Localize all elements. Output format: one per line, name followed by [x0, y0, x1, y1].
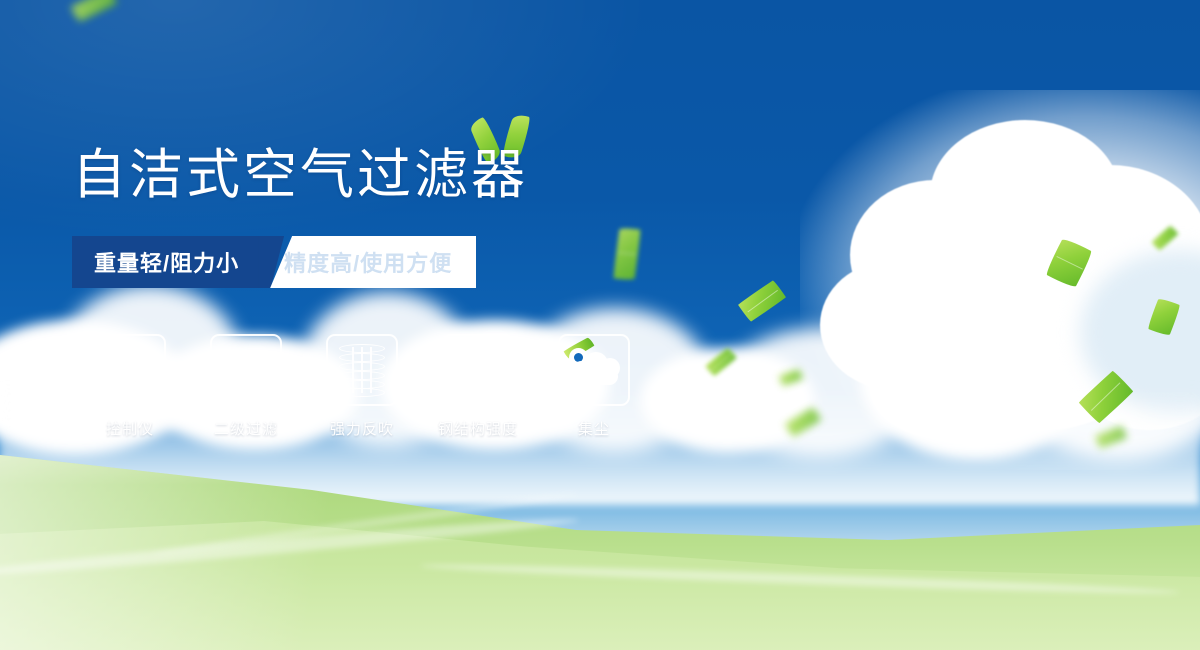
feature-icon-box: 3～8MM 钢板 — [442, 334, 514, 406]
subtitle-bar: 重量轻/阻力小 精度高/使用方便 — [72, 236, 476, 288]
gauge-on-label: NO — [101, 364, 112, 371]
feature-icon-box: 0.6～0.8 MPA — [210, 334, 282, 406]
feature-label: 集尘 — [578, 418, 610, 439]
air-label: Air — [566, 385, 622, 396]
filter-stack-icon — [339, 344, 385, 396]
feature-item-reverse-blow[interactable]: 强力反吹 — [304, 334, 420, 439]
feature-item-control-instrument[interactable]: NO OFF 控制仪 — [72, 334, 188, 439]
page-title: 自洁式空气过滤器 — [72, 146, 528, 204]
feature-label: 二级过滤 — [214, 418, 278, 439]
feature-list: NO OFF 控制仪 0.6～0.8 MPA 二级过滤 — [72, 334, 652, 439]
feature-icon-box — [326, 334, 398, 406]
pressure-value-line2: MPA — [230, 370, 262, 387]
gauge-off-label: OFF — [143, 386, 158, 393]
feature-item-steel-strength[interactable]: 3～8MM 钢板 钢结构强度 — [420, 334, 536, 439]
feature-item-secondary-filtration[interactable]: 0.6～0.8 MPA 二级过滤 — [188, 334, 304, 439]
pressure-value-line1: 0.6～0.8 — [217, 353, 276, 370]
feature-label: 钢结构强度 — [438, 418, 518, 439]
feature-label: 强力反吹 — [330, 418, 394, 439]
gauge-dial-icon: NO OFF — [101, 342, 159, 398]
sky-glow — [0, 0, 720, 273]
feature-label: 控制仪 — [106, 418, 154, 439]
feature-icon-box: NO OFF — [94, 334, 166, 406]
feature-item-dust-collection[interactable]: Air 集尘 — [536, 334, 652, 439]
steel-value-line2: 钢板 — [463, 370, 494, 387]
cloud-air-icon: Air — [566, 347, 622, 393]
banner-stage: 自洁式空气过滤器 重量轻/阻力小 精度高/使用方便 — [0, 0, 1200, 650]
subtitle-right: 精度高/使用方便 — [270, 236, 476, 288]
steel-value-line1: 3～8MM — [449, 353, 507, 370]
feature-icon-box: Air — [558, 334, 630, 406]
subtitle-left: 重量轻/阻力小 — [72, 236, 259, 288]
